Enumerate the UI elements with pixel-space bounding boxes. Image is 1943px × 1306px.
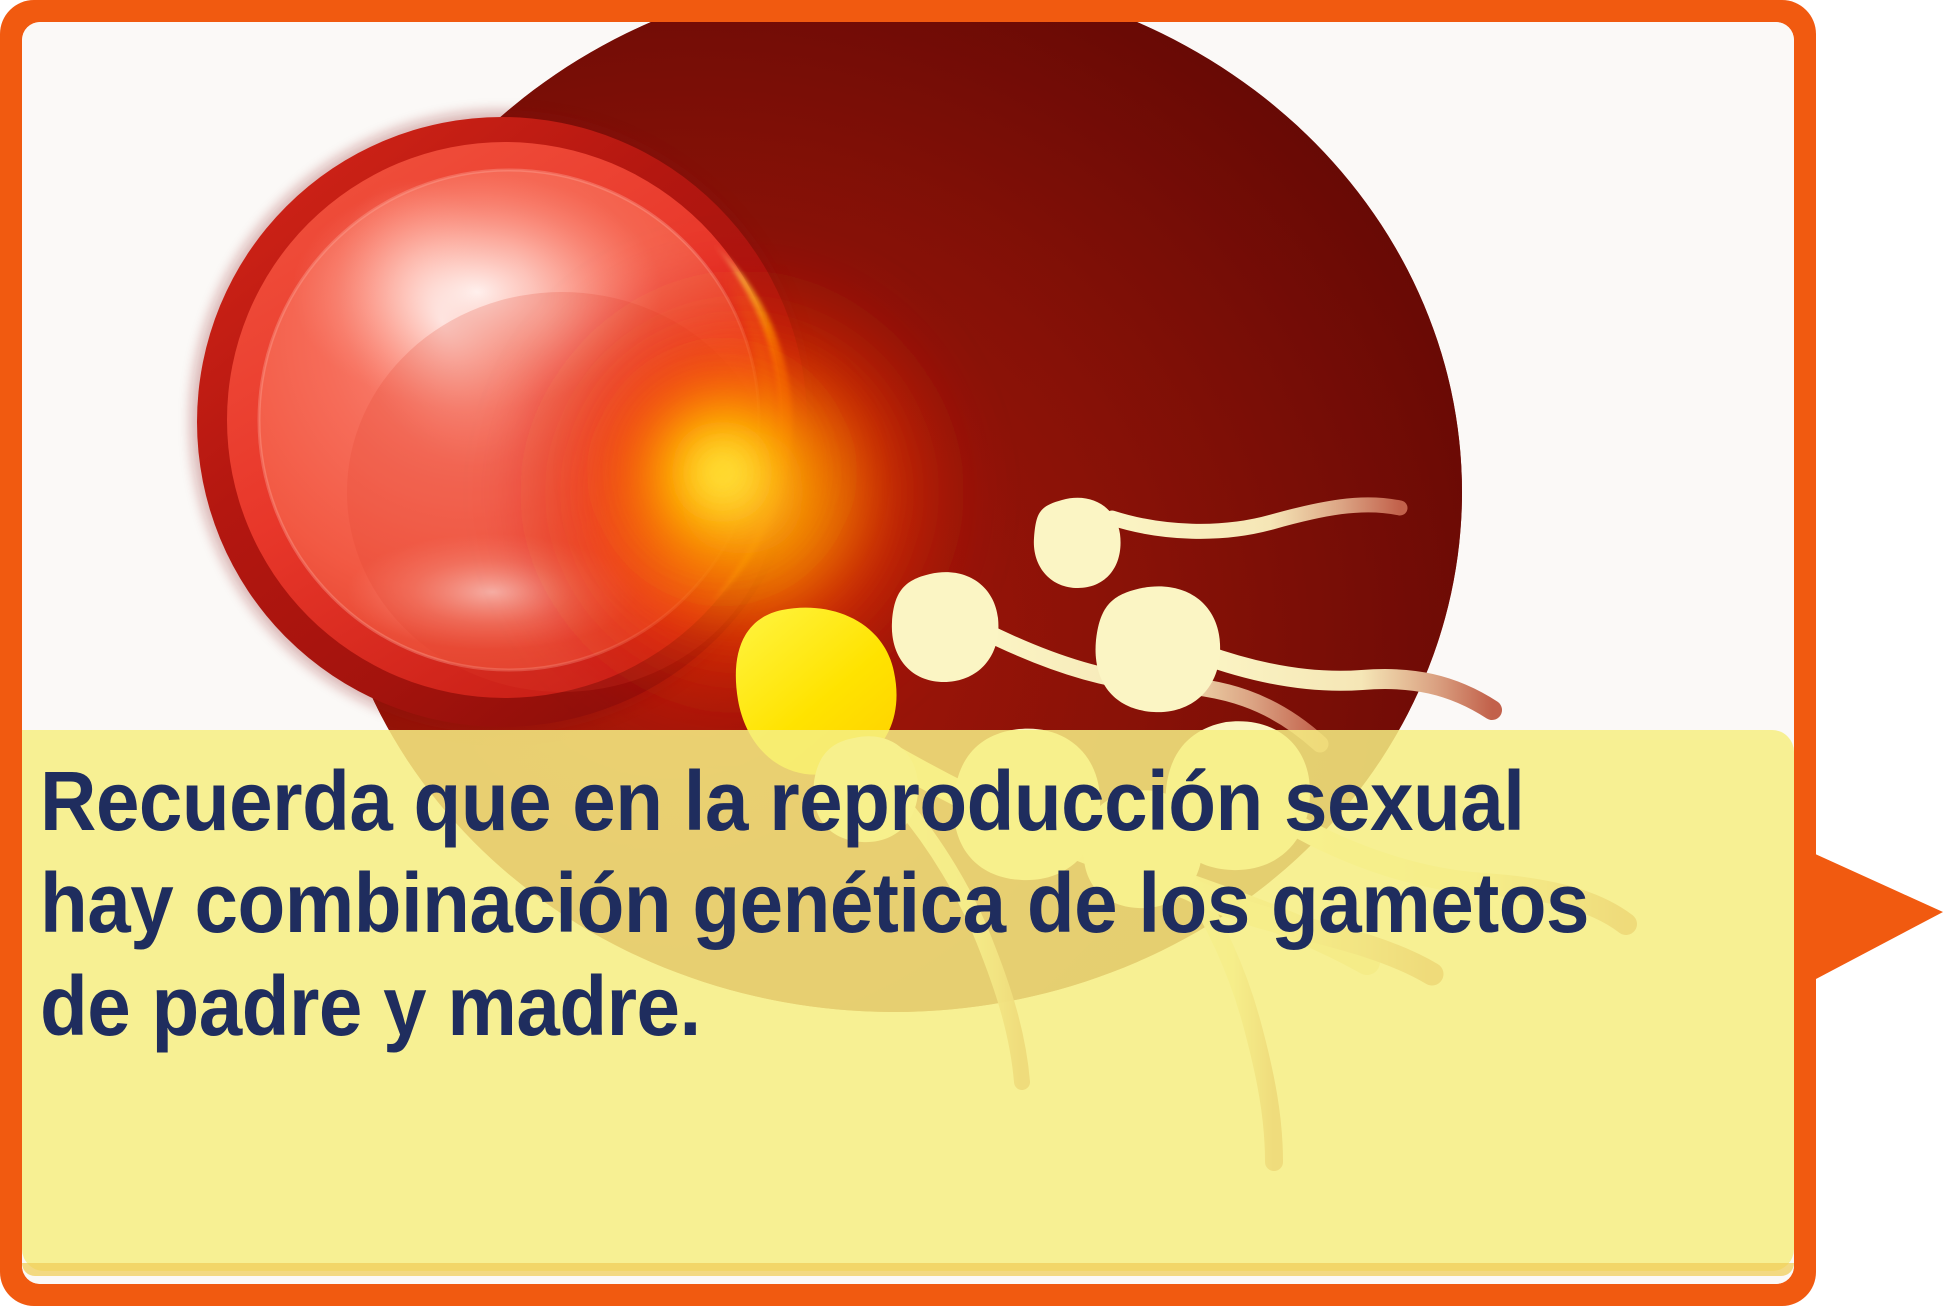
fertilization-illustration — [22, 22, 1794, 1284]
card-border — [0, 0, 1816, 1306]
illustration-card: Recuerda que en la reproducción sexual h… — [0, 0, 1943, 1306]
illustration-canvas — [22, 22, 1794, 1284]
